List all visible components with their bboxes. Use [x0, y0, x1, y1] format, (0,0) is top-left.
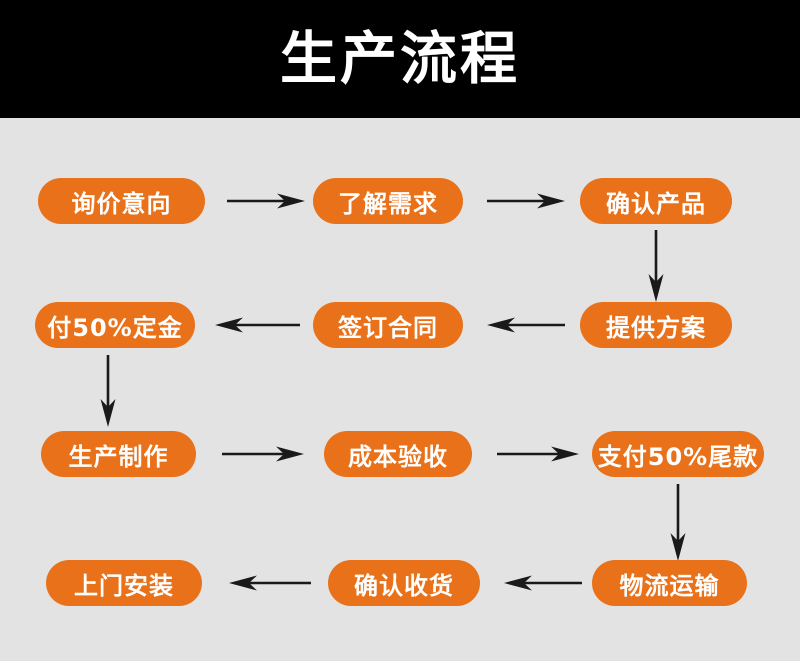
flow-node-label: 物流运输 — [620, 566, 720, 601]
flow-diagram: 询价意向 了解需求 确认产品 — [0, 118, 800, 661]
flow-node-pay-balance[interactable]: 支付50%尾款 — [592, 431, 764, 477]
arrow-right-n7-n8 — [222, 446, 304, 462]
arrow-left-n4-n5 — [487, 317, 565, 333]
flow-node-label: 确认收货 — [354, 566, 454, 601]
flow-node-label: 签订合同 — [338, 308, 438, 343]
arrow-down-n9-n10 — [670, 484, 686, 561]
arrow-down-n6-n7 — [100, 355, 116, 427]
flow-node-provide-plan[interactable]: 提供方案 — [580, 302, 732, 348]
flow-node-label: 询价意向 — [72, 184, 172, 219]
flow-node-label: 生产制作 — [69, 437, 169, 472]
arrow-left-n11-n12 — [229, 575, 311, 591]
arrow-right-n1-n2 — [227, 193, 305, 209]
flow-node-label: 确认产品 — [606, 184, 706, 219]
arrow-right-n2-n3 — [487, 193, 565, 209]
flow-node-cost-acceptance[interactable]: 成本验收 — [324, 431, 472, 477]
flow-node-confirm-product[interactable]: 确认产品 — [580, 178, 732, 224]
flow-node-label: 了解需求 — [338, 184, 438, 219]
flow-node-sign-contract[interactable]: 签订合同 — [313, 302, 463, 348]
flow-node-pay-deposit[interactable]: 付50%定金 — [35, 302, 195, 348]
arrow-left-n5-n6 — [215, 317, 300, 333]
flow-node-confirm-receipt[interactable]: 确认收货 — [328, 560, 480, 606]
page-header: 生产流程 — [0, 0, 800, 118]
flow-node-label: 支付50%尾款 — [598, 437, 758, 472]
flow-node-logistics[interactable]: 物流运输 — [592, 560, 747, 606]
flow-node-onsite-installation[interactable]: 上门安装 — [46, 560, 202, 606]
flow-node-label: 提供方案 — [606, 308, 706, 343]
arrow-right-n8-n9 — [497, 446, 579, 462]
flow-node-understand-needs[interactable]: 了解需求 — [313, 178, 463, 224]
flow-node-label: 上门安装 — [74, 566, 174, 601]
flow-node-label: 成本验收 — [348, 437, 448, 472]
flow-node-manufacturing[interactable]: 生产制作 — [41, 431, 196, 477]
flow-node-inquiry-intent[interactable]: 询价意向 — [38, 178, 205, 224]
flowchart-page: 生产流程 询价意向 了解需求 确认产品 — [0, 0, 800, 661]
arrow-left-n10-n11 — [504, 575, 582, 591]
page-title: 生产流程 — [280, 31, 520, 88]
flow-node-label: 付50%定金 — [47, 308, 182, 343]
arrow-down-n3-n4 — [648, 230, 664, 302]
